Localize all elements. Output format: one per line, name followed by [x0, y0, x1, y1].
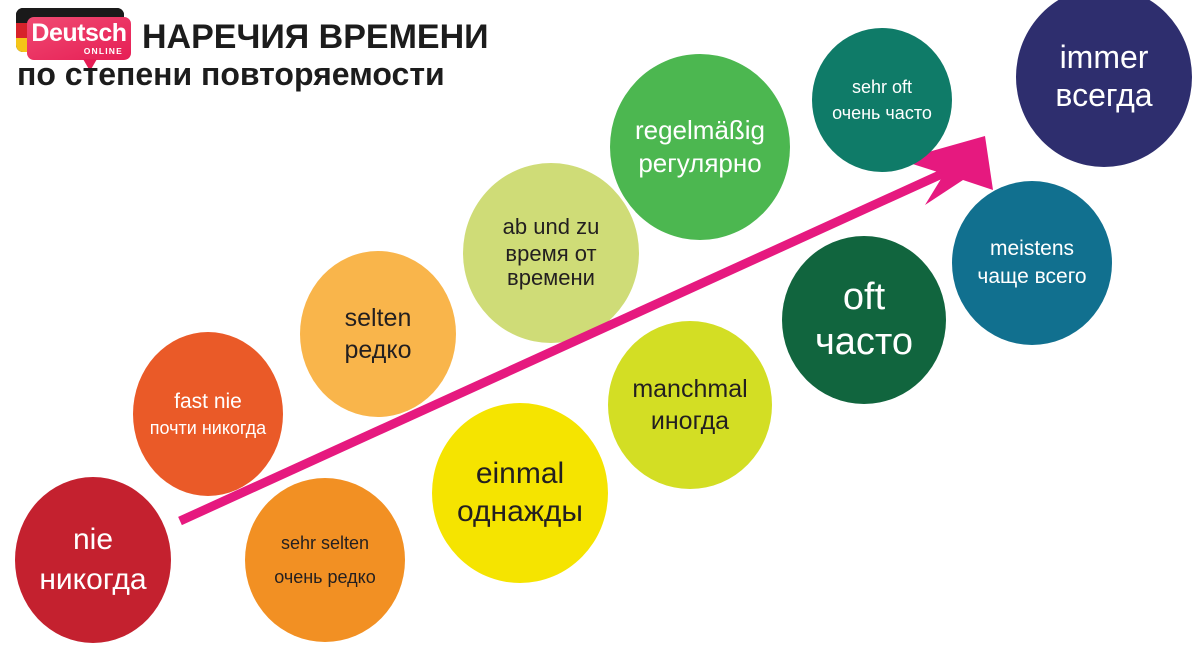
bubble-german-term: selten — [345, 304, 412, 332]
bubble-russian-term: очень редко — [274, 567, 376, 587]
infographic-canvas: Deutsch ONLINE НАРЕЧИЯ ВРЕМЕНИ по степен… — [0, 0, 1200, 648]
bubble-russian-term: чаще всего — [977, 265, 1086, 289]
bubble-sehr-oft[interactable]: sehr oftочень часто — [812, 28, 952, 172]
bubble-russian-term: регулярно — [638, 149, 761, 178]
bubble-german-term: nie — [73, 523, 113, 557]
bubble-russian-term: однажды — [457, 495, 583, 529]
bubble-russian-term: редко — [345, 336, 412, 364]
bubble-russian-term: почти никогда — [150, 418, 266, 438]
bubble-german-term: fast nie — [174, 390, 242, 414]
bubble-russian-term: очень часто — [832, 103, 932, 123]
bubble-russian-term: всегда — [1055, 78, 1152, 114]
bubble-einmal[interactable]: einmalоднажды — [432, 403, 608, 583]
bubble-russian-term: часто — [815, 321, 913, 364]
bubble-german-term: einmal — [476, 457, 564, 491]
bubble-oft[interactable]: oftчасто — [782, 236, 946, 404]
logo-word: Deutsch — [27, 19, 131, 47]
title-line-1: НАРЕЧИЯ ВРЕМЕНИ — [142, 18, 662, 56]
bubble-russian-term: никогда — [39, 563, 146, 597]
logo-speech-bubble: Deutsch ONLINE — [27, 17, 131, 60]
bubble-german-term: oft — [843, 276, 885, 319]
bubble-selten[interactable]: seltenредко — [300, 251, 456, 417]
bubble-german-term: regelmäßig — [635, 116, 765, 145]
bubble-german-term: meistens — [990, 237, 1074, 261]
bubble-nie[interactable]: nieникогда — [15, 477, 171, 643]
logo-subtitle: ONLINE — [84, 46, 123, 56]
bubble-german-term: manchmal — [632, 375, 747, 403]
bubble-fast-nie[interactable]: fast nieпочти никогда — [133, 332, 283, 496]
bubble-manchmal[interactable]: manchmalиногда — [608, 321, 772, 489]
bubble-german-term: sehr oft — [852, 77, 912, 97]
bubble-meistens[interactable]: meistensчаще всего — [952, 181, 1112, 345]
bubble-german-term: ab und zu — [503, 215, 600, 240]
bubble-russian-term: иногда — [651, 407, 729, 435]
bubble-sehr-selten[interactable]: sehr seltenочень редко — [245, 478, 405, 642]
bubble-german-term: sehr selten — [281, 533, 369, 553]
bubble-german-term: immer — [1060, 40, 1149, 76]
title-line-2: по степени повторяемости — [17, 56, 445, 92]
bubble-russian-term: время от времени — [465, 242, 637, 291]
bubble-immer[interactable]: immerвсегда — [1016, 0, 1192, 167]
bubble-regelmäßig[interactable]: regelmäßigрегулярно — [610, 54, 790, 240]
page-title: НАРЕЧИЯ ВРЕМЕНИ по степени повторяемости — [142, 18, 662, 56]
bubble-ab-und-zu[interactable]: ab und zuвремя от времени — [463, 163, 639, 343]
